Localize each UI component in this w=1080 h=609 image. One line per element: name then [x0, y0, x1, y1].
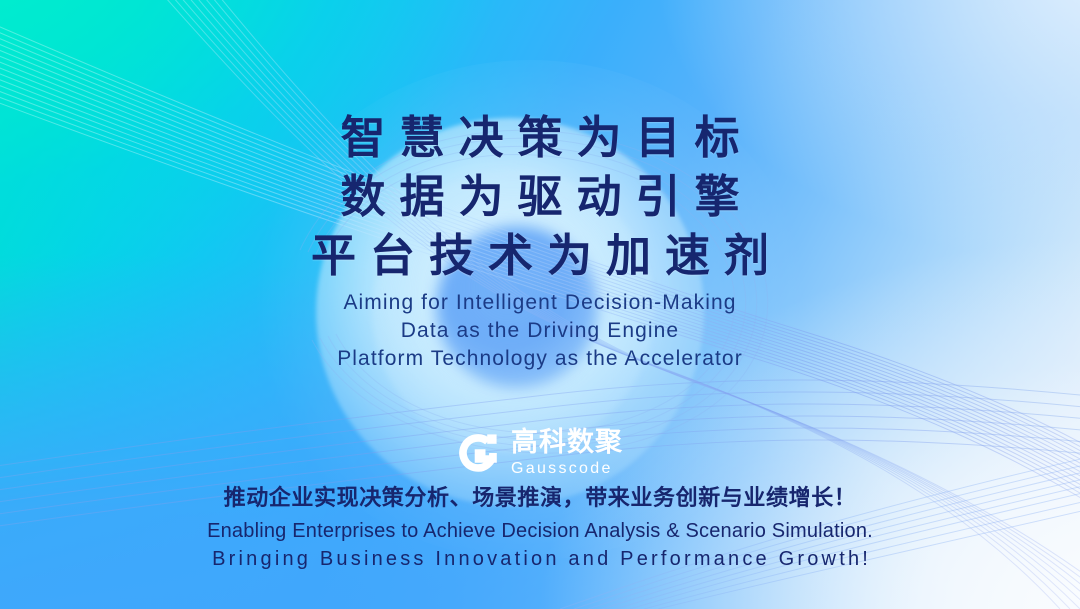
subheading-line-1: Aiming for Intelligent Decision-Making — [0, 289, 1080, 317]
promotional-poster: 智慧决策为目标 数据为驱动引擎 平台技术为加速剂 Aiming for Inte… — [0, 0, 1080, 609]
subheading-block: Aiming for Intelligent Decision-Making D… — [0, 289, 1080, 373]
headline-line-3: 平台技术为加速剂 — [0, 226, 1080, 285]
brand-logo-wordmark: 高科数聚 Gausscode — [511, 429, 623, 478]
subheading-line-2: Data as the Driving Engine — [0, 317, 1080, 345]
headline-block: 智慧决策为目标 数据为驱动引擎 平台技术为加速剂 — [0, 108, 1080, 285]
brand-name-cn: 高科数聚 — [511, 429, 623, 457]
poster-content: 智慧决策为目标 数据为驱动引擎 平台技术为加速剂 Aiming for Inte… — [0, 0, 1080, 609]
footer-block: 推动企业实现决策分析、场景推演，带来业务创新与业绩增长！ Enabling En… — [0, 482, 1080, 573]
headline-line-2: 数据为驱动引擎 — [0, 167, 1080, 226]
subheading-line-3: Platform Technology as the Accelerator — [0, 345, 1080, 373]
footer-tagline-cn: 推动企业实现决策分析、场景推演，带来业务创新与业绩增长！ — [0, 482, 1080, 515]
footer-tagline-en-line1: Enabling Enterprises to Achieve Decision… — [0, 517, 1080, 545]
footer-tagline-en-line2: Bringing Business Innovation and Perform… — [0, 545, 1080, 573]
headline-line-1: 智慧决策为目标 — [0, 108, 1080, 167]
brand-logo: 高科数聚 Gausscode — [0, 429, 1080, 478]
gausscode-g-mark-icon — [457, 432, 500, 475]
brand-name-en: Gausscode — [511, 459, 623, 478]
